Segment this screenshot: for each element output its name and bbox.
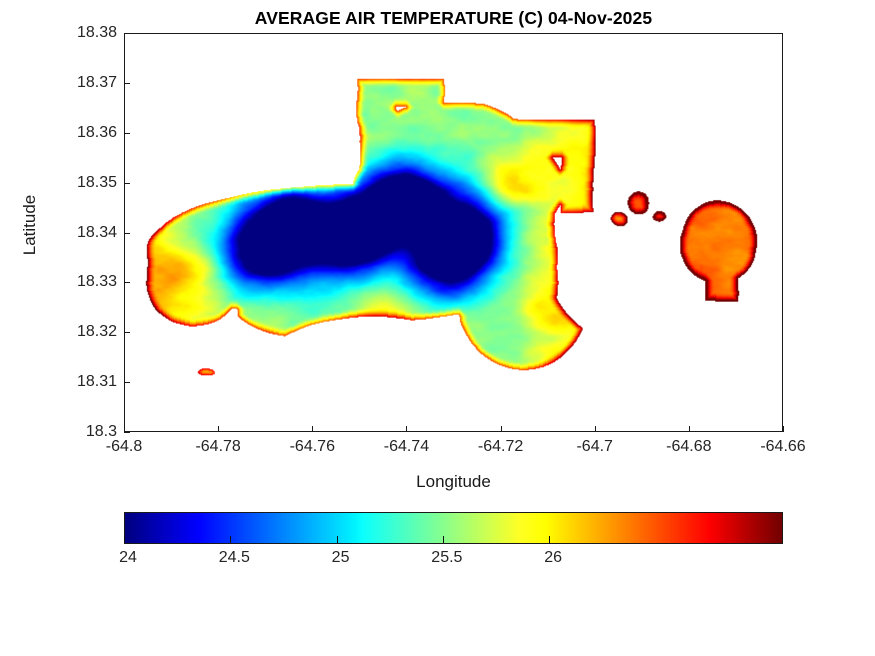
map-axes	[124, 33, 783, 432]
colorbar-tick-label: 26	[544, 549, 562, 567]
colorbar	[124, 512, 783, 544]
x-tick-label: -64.72	[478, 438, 523, 456]
x-tick-label: -64.76	[290, 438, 335, 456]
x-tick-label: -64.7	[576, 438, 612, 456]
x-tick-label: -64.74	[384, 438, 429, 456]
y-tick-label: 18.38	[77, 24, 117, 42]
y-tick-mark	[124, 382, 130, 383]
y-tick-label: 18.37	[77, 74, 117, 92]
x-tick-mark	[501, 426, 502, 432]
x-axis-label: Longitude	[124, 472, 783, 492]
y-tick-mark	[124, 233, 130, 234]
y-tick-mark	[124, 133, 130, 134]
y-tick-label: 18.36	[77, 124, 117, 142]
colorbar-tick-mark	[443, 536, 444, 543]
colorbar-tick-mark	[337, 536, 338, 543]
x-tick-label: -64.78	[195, 438, 240, 456]
x-tick-label: -64.68	[666, 438, 711, 456]
y-tick-mark	[124, 33, 130, 34]
y-tick-label: 18.34	[77, 224, 117, 242]
y-tick-label: 18.31	[77, 373, 117, 391]
colorbar-tick-label: 25.5	[431, 549, 462, 567]
page-title: AVERAGE AIR TEMPERATURE (C) 04-Nov-2025	[124, 8, 783, 29]
y-axis-tick-labels: 18.318.3118.3218.3318.3418.3518.3618.371…	[0, 0, 117, 656]
colorbar-tick-label: 24	[119, 549, 137, 567]
matlab-figure-window: AVERAGE AIR TEMPERATURE (C) 04-Nov-2025 …	[0, 0, 875, 656]
y-tick-mark	[124, 432, 130, 433]
x-tick-mark	[783, 426, 784, 432]
y-tick-mark	[124, 282, 130, 283]
colorbar-tick-label: 24.5	[219, 549, 250, 567]
y-tick-mark	[124, 183, 130, 184]
x-tick-mark	[595, 426, 596, 432]
y-tick-label: 18.35	[77, 174, 117, 192]
x-tick-mark	[124, 426, 125, 432]
y-axis-label: Latitude	[20, 140, 40, 310]
temperature-heatmap-canvas	[125, 34, 782, 431]
colorbar-tick-mark	[549, 536, 550, 543]
colorbar-tick-label: 25	[332, 549, 350, 567]
y-tick-label: 18.32	[77, 323, 117, 341]
x-tick-mark	[312, 426, 313, 432]
x-tick-label: -64.8	[106, 438, 142, 456]
y-tick-label: 18.33	[77, 273, 117, 291]
colorbar-tick-mark	[230, 536, 231, 543]
x-tick-label: -64.66	[760, 438, 805, 456]
y-tick-mark	[124, 332, 130, 333]
colorbar-gradient	[124, 512, 783, 544]
x-tick-mark	[406, 426, 407, 432]
y-tick-mark	[124, 83, 130, 84]
x-tick-mark	[689, 426, 690, 432]
x-tick-mark	[218, 426, 219, 432]
colorbar-tick-mark	[124, 536, 125, 543]
